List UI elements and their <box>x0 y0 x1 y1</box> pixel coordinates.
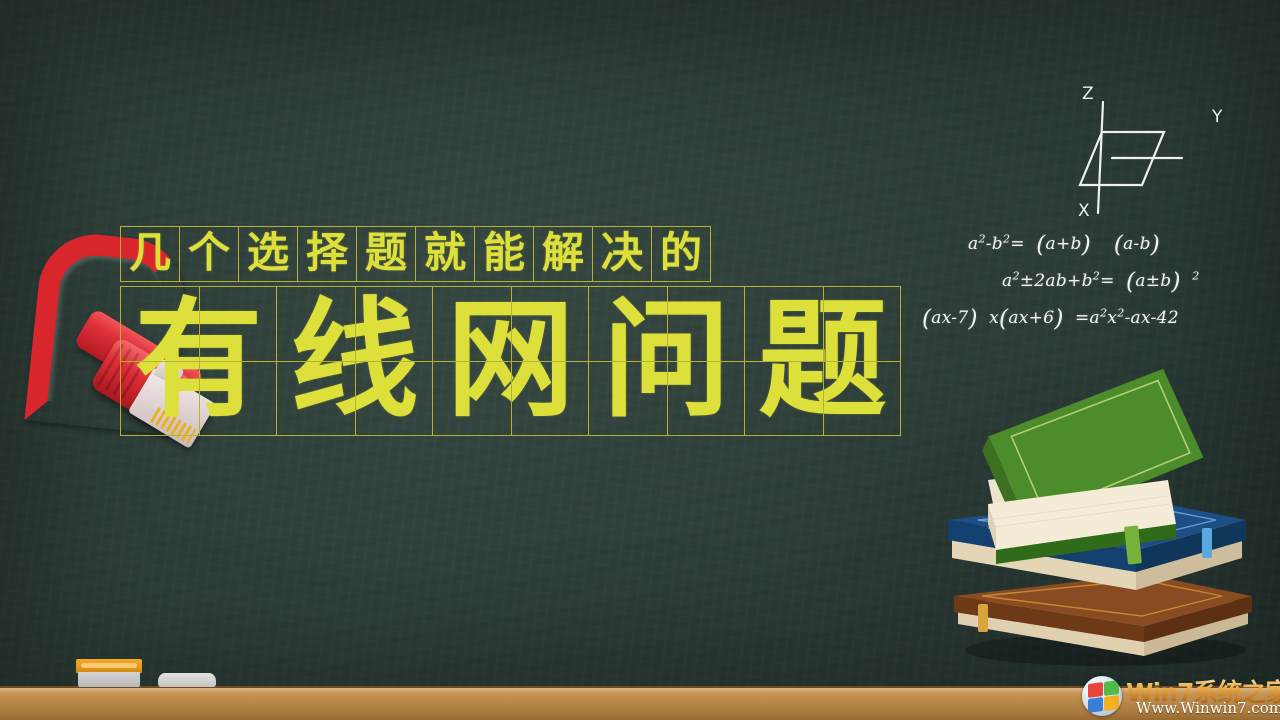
title-cell: 题 <box>744 286 901 436</box>
formula-perfect-square: a2±2ab+b2= (a±b) 2 <box>1002 269 1220 295</box>
subtitle-cell: 决 <box>592 226 652 282</box>
logo-quadrant-blue <box>1088 697 1103 713</box>
subtitle-cell: 就 <box>415 226 475 282</box>
title-char: 题 <box>758 297 886 425</box>
logo-quadrant-red <box>1088 682 1103 698</box>
title-block: 几 个 选 择 题 就 能 解 决 的 有 线 网 问 题 <box>121 226 901 436</box>
chalk-formulas: a2-b2= (a+b) (a-b) a2±2ab+b2= (a±b) 2 (a… <box>920 232 1220 343</box>
subtitle-grid-row: 几 个 选 择 题 就 能 解 决 的 <box>121 226 901 282</box>
geometry-svg: Z X Y <box>1040 80 1240 230</box>
subtitle-char: 能 <box>483 232 525 274</box>
subtitle-char: 的 <box>660 232 702 274</box>
watermark-url: Www.Winwin7.com <box>1136 699 1280 717</box>
title-char: 网 <box>446 297 574 425</box>
subtitle-cell: 个 <box>179 226 239 282</box>
formula-difference-of-squares: a2-b2= (a+b) (a-b) <box>968 232 1220 258</box>
slide-canvas: Z X Y a2-b2= (a+b) (a-b) a2±2ab+b2= (a±b… <box>0 0 1280 720</box>
logo-quadrant-green <box>1104 680 1119 696</box>
books-svg <box>930 368 1270 668</box>
books-stack <box>930 368 1270 668</box>
z-axis-line <box>1098 102 1103 213</box>
title-char: 线 <box>290 297 418 425</box>
formula-product-expansion: (ax-7) x(ax+6) =a2x2-ax-42 <box>922 306 1220 332</box>
subtitle-cell: 选 <box>238 226 298 282</box>
geometry-diagram: Z X Y <box>1040 80 1240 230</box>
subtitle-char: 择 <box>306 232 348 274</box>
subtitle-char: 几 <box>129 232 171 274</box>
title-char: 有 <box>134 297 262 425</box>
board-eraser <box>76 659 142 687</box>
subtitle-char: 就 <box>424 232 466 274</box>
bottom-book-ribbon <box>978 604 988 632</box>
eraser-handle <box>76 659 142 673</box>
geometry-label-x: X <box>1078 201 1090 221</box>
geometry-label-y: Y <box>1211 107 1223 127</box>
subtitle-cell: 解 <box>533 226 593 282</box>
eraser-felt <box>78 672 140 687</box>
chalk-stick <box>158 673 216 687</box>
title-cell: 有 <box>120 286 277 436</box>
title-cell: 网 <box>432 286 589 436</box>
middle-book-ribbon <box>1202 528 1212 558</box>
subtitle-cell: 题 <box>356 226 416 282</box>
subtitle-cell: 几 <box>120 226 180 282</box>
subtitle-char: 选 <box>247 232 289 274</box>
subtitle-cell: 的 <box>651 226 711 282</box>
main-title-grid-row: 有 线 网 问 题 <box>121 286 901 436</box>
title-cell: 问 <box>588 286 745 436</box>
windows-logo-icon <box>1082 676 1122 716</box>
subtitle-cell: 择 <box>297 226 357 282</box>
subtitle-char: 决 <box>601 232 643 274</box>
subtitle-char: 解 <box>542 232 584 274</box>
subtitle-char: 题 <box>365 232 407 274</box>
subtitle-cell: 能 <box>474 226 534 282</box>
title-char: 问 <box>602 297 730 425</box>
logo-quadrant-yellow <box>1104 695 1119 711</box>
subtitle-char: 个 <box>188 232 230 274</box>
title-cell: 线 <box>276 286 433 436</box>
watermark: Win7系统之家 Www.Winwin7.com <box>1078 672 1280 720</box>
geometry-label-z: Z <box>1082 84 1094 104</box>
